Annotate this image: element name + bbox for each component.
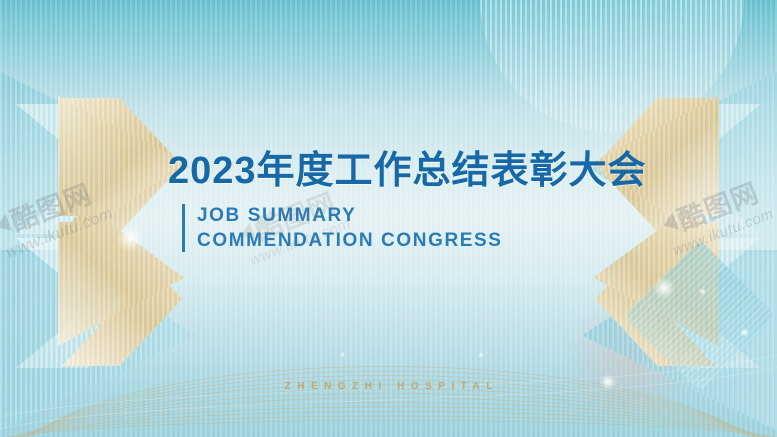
sparkle-left-center xyxy=(117,226,143,252)
title-block: 2023年度工作总结表彰大会 JOB SUMMARY COMMENDATION … xyxy=(168,148,638,252)
sparkle-small-c xyxy=(478,352,484,358)
accent-bar xyxy=(182,204,185,252)
decorative-arc-lines xyxy=(0,297,777,437)
subtitle-line-2: COMMENDATION CONGRESS xyxy=(197,229,503,252)
organization-name: ZHENGZHI HOSPITAL xyxy=(0,381,777,392)
subtitle-line-1: JOB SUMMARY xyxy=(197,204,503,227)
subtitle-group: JOB SUMMARY COMMENDATION CONGRESS xyxy=(182,204,638,252)
sparkle-small-b xyxy=(699,288,706,295)
presentation-slide: 2023年度工作总结表彰大会 JOB SUMMARY COMMENDATION … xyxy=(0,0,777,437)
sparkle-small-a xyxy=(740,328,749,337)
sparkle-small-d xyxy=(340,352,345,357)
sparkle-right-gold xyxy=(653,277,675,299)
page-title: 2023年度工作总结表彰大会 xyxy=(168,148,638,194)
